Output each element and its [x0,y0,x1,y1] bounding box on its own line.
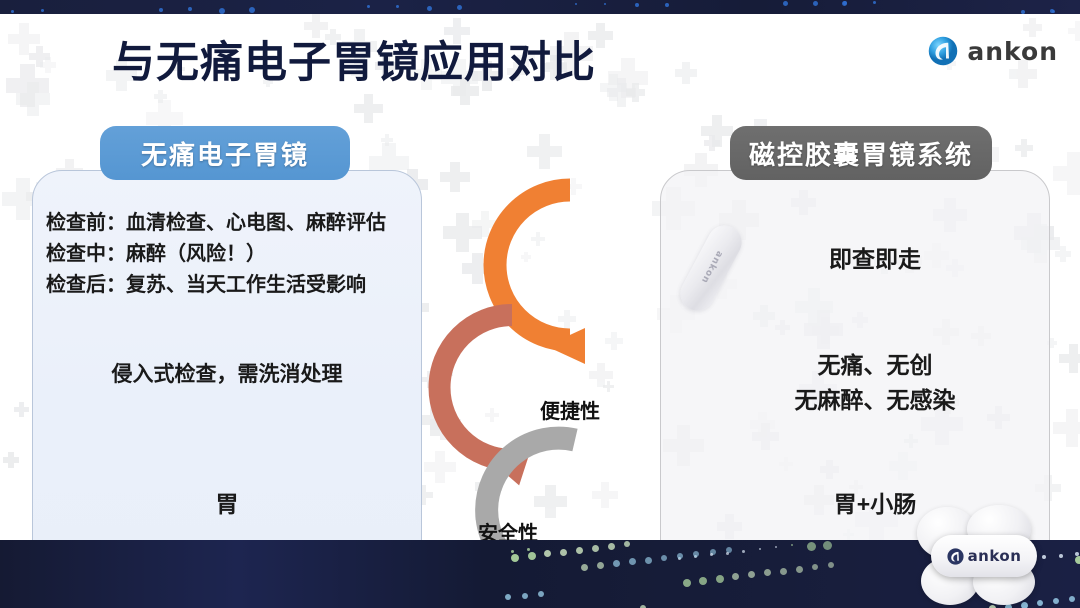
decorative-sparkle-dot [576,547,583,554]
decorative-sparkle-dot [1050,9,1054,13]
decorative-sparkle-dot [732,573,739,580]
left-panel-line-1: 检查前：血清检查、心电图、麻醉评估 [46,208,416,239]
device-ankon-swirl-icon [947,548,964,565]
ankon-capsule-device: ankon [915,505,1055,605]
decorative-sparkle-dot [367,5,370,8]
decorative-sparkle-dot [624,541,630,547]
ankon-swirl-icon [928,36,958,66]
decorative-sparkle-dot [665,3,669,7]
decorative-sparkle-dot [528,552,536,560]
decorative-sparkle-dot [683,579,691,587]
right-panel-top-text: 即查即走 [700,240,1050,274]
decorative-sparkle-dot [613,560,620,567]
device-capsule-body: ankon [931,535,1037,577]
decorative-plus-icon [701,115,733,147]
decorative-sparkle-dot [249,7,255,13]
decorative-sparkle-dot [427,6,432,11]
decorative-sparkle-dot [823,541,832,550]
decorative-plus-icon [1053,152,1080,195]
decorative-sparkle-dot [538,591,544,597]
ring-arrow-convenience [495,190,585,364]
device-brand-label: ankon [968,547,1022,565]
decorative-sparkle-dot [645,557,652,564]
decorative-plus-icon [154,90,167,103]
decorative-sparkle-dot [764,569,771,576]
left-panel-title-pill: 无痛电子胃镜 [100,126,350,180]
center-ring-diagram: 便捷性 安全性 检查范围 [400,150,680,580]
decorative-plus-icon [1059,344,1080,373]
decorative-sparkle-dot [527,548,530,551]
decorative-sparkle-dot [748,571,755,578]
decorative-sparkle-dot [783,1,788,6]
decorative-sparkle-dot [828,562,834,568]
decorative-plus-icon [354,94,383,123]
decorative-sparkle-dot [677,553,683,559]
brand-name: ankon [967,37,1058,66]
decorative-sparkle-dot [575,3,577,5]
decorative-plus-icon [3,452,19,468]
left-panel-line-list: 检查前：血清检查、心电图、麻醉评估 检查中：麻醉（风险！） 检查后：复苏、当天工… [46,208,416,301]
decorative-sparkle-dot [592,545,599,552]
decorative-sparkle-dot [693,551,699,557]
decorative-sparkle-dot [807,542,816,551]
decorative-sparkle-dot [457,5,462,10]
decorative-sparkle-dot [742,550,745,553]
decorative-plus-icon [1015,139,1033,157]
left-panel-scope-text: 胃 [32,485,422,519]
top-decoration-band [0,0,1080,14]
decorative-sparkle-dot [11,10,14,13]
decorative-sparkle-dot [581,564,588,571]
page-title: 与无痛电子胃镜应用对比 [112,28,596,90]
right-panel-title-pill: 磁控胶囊胃镜系统 [730,126,992,180]
slide-root: 与无痛电子胃镜应用对比 ankon 检查前：血清检查、心电图、麻醉评估 检查中：… [0,0,1080,608]
decorative-sparkle-dot [544,550,551,557]
decorative-sparkle-dot [775,546,777,548]
decorative-sparkle-dot [791,544,793,546]
left-panel-line-2: 检查中：麻醉（风险！） [46,239,416,270]
decorative-sparkle-dot [813,1,818,6]
decorative-sparkle-dot [505,594,511,600]
decorative-sparkle-dot [759,548,761,550]
decorative-sparkle-dot [716,575,724,583]
decorative-sparkle-dot [661,555,667,561]
decorative-sparkle-dot [629,558,636,565]
right-panel-middle-line-2: 无麻醉、无感染 [690,383,1060,418]
decorative-sparkle-dot [796,566,803,573]
decorative-sparkle-dot [1059,554,1063,558]
decorative-sparkle-dot [159,8,163,12]
decorative-sparkle-dot [41,9,44,12]
left-panel-line-3: 检查后：复苏、当天工作生活受影响 [46,270,416,301]
decorative-sparkle-dot [699,577,707,585]
decorative-sparkle-dot [396,5,399,8]
brand-logo: ankon [928,36,1058,66]
decorative-sparkle-dot [511,554,519,562]
decorative-sparkle-dot [1075,556,1080,564]
decorative-sparkle-dot [1069,596,1075,602]
decorative-sparkle-dot [780,568,787,575]
decorative-sparkle-dot [522,593,528,599]
ring-arrows-svg [400,150,680,580]
decorative-sparkle-dot [635,3,639,7]
right-panel-middle-text: 无痛、无创 无麻醉、无感染 [690,348,1060,418]
decorative-sparkle-dot [560,549,567,556]
ring-label-convenience: 便捷性 [520,395,620,424]
decorative-sparkle-dot [812,564,818,570]
decorative-sparkle-dot [608,543,615,550]
decorative-sparkle-dot [597,562,604,569]
right-panel-middle-line-1: 无痛、无创 [690,348,1060,383]
decorative-sparkle-dot [604,3,606,5]
decorative-sparkle-dot [511,550,514,553]
left-panel-middle-text: 侵入式检查，需洗消处理 [32,358,422,388]
decorative-plus-icon [14,402,29,417]
slide-header: 与无痛电子胃镜应用对比 ankon [0,14,1080,86]
decorative-sparkle-dot [710,553,713,556]
decorative-sparkle-dot [726,552,729,555]
decorative-sparkle-dot [1075,552,1079,556]
decorative-sparkle-dot [188,7,192,11]
decorative-sparkle-dot [873,1,876,4]
decorative-sparkle-dot [843,1,847,5]
